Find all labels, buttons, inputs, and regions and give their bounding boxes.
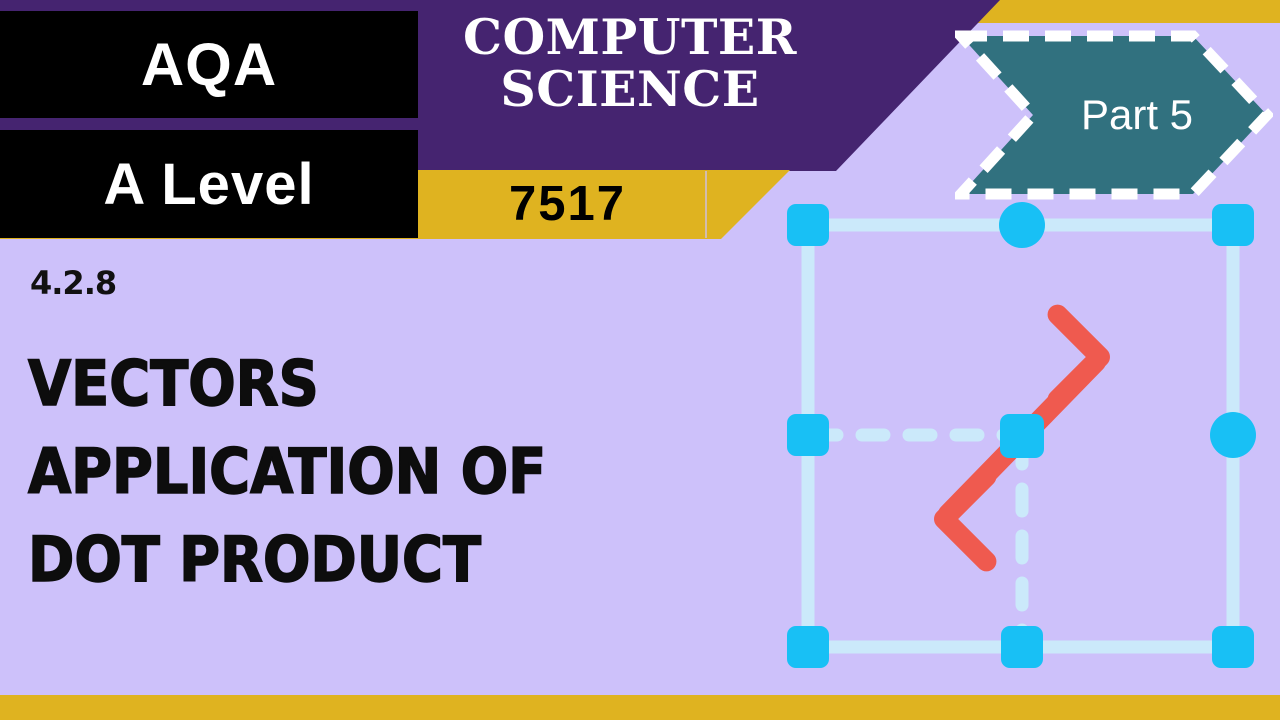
handle-top-left — [787, 204, 829, 246]
handle-top-center — [999, 202, 1045, 248]
lesson-title-line-3: DOT PRODUCT — [28, 516, 668, 604]
lesson-title: VECTORS APPLICATION OF DOT PRODUCT — [28, 340, 668, 604]
lesson-title-line-1: VECTORS — [28, 340, 668, 428]
handle-center — [1000, 414, 1044, 458]
arrow-head-upper — [1015, 315, 1100, 400]
slide-canvas: AQA A Level COMPUTER SCIENCE 7517 Part 5… — [0, 0, 1280, 720]
handle-bottom-center — [1001, 626, 1043, 668]
chevron-shape — [961, 36, 1267, 194]
exam-board-box: AQA — [0, 11, 418, 118]
handle-bottom-left — [787, 626, 829, 668]
qualification-box: A Level — [0, 130, 418, 238]
part-chevron-banner — [955, 30, 1273, 200]
spec-code: 4.2.8 — [30, 264, 116, 302]
handle-middle-right — [1210, 412, 1256, 458]
lesson-title-line-2: APPLICATION OF — [28, 428, 668, 516]
bottom-yellow-bar — [0, 695, 1280, 720]
vector-selection-diagram — [760, 180, 1280, 690]
handle-middle-left — [787, 414, 829, 456]
subject-title-line-1: COMPUTER — [430, 12, 830, 64]
subject-title-line-2: SCIENCE — [430, 64, 830, 116]
subject-code: 7517 — [430, 176, 705, 232]
handle-bottom-right — [1212, 626, 1254, 668]
exam-board-label: AQA — [141, 30, 277, 99]
qualification-label: A Level — [103, 151, 314, 218]
handle-top-right — [1212, 204, 1254, 246]
subject-title: COMPUTER SCIENCE — [430, 12, 830, 116]
yellow-banner-divider — [705, 171, 707, 238]
